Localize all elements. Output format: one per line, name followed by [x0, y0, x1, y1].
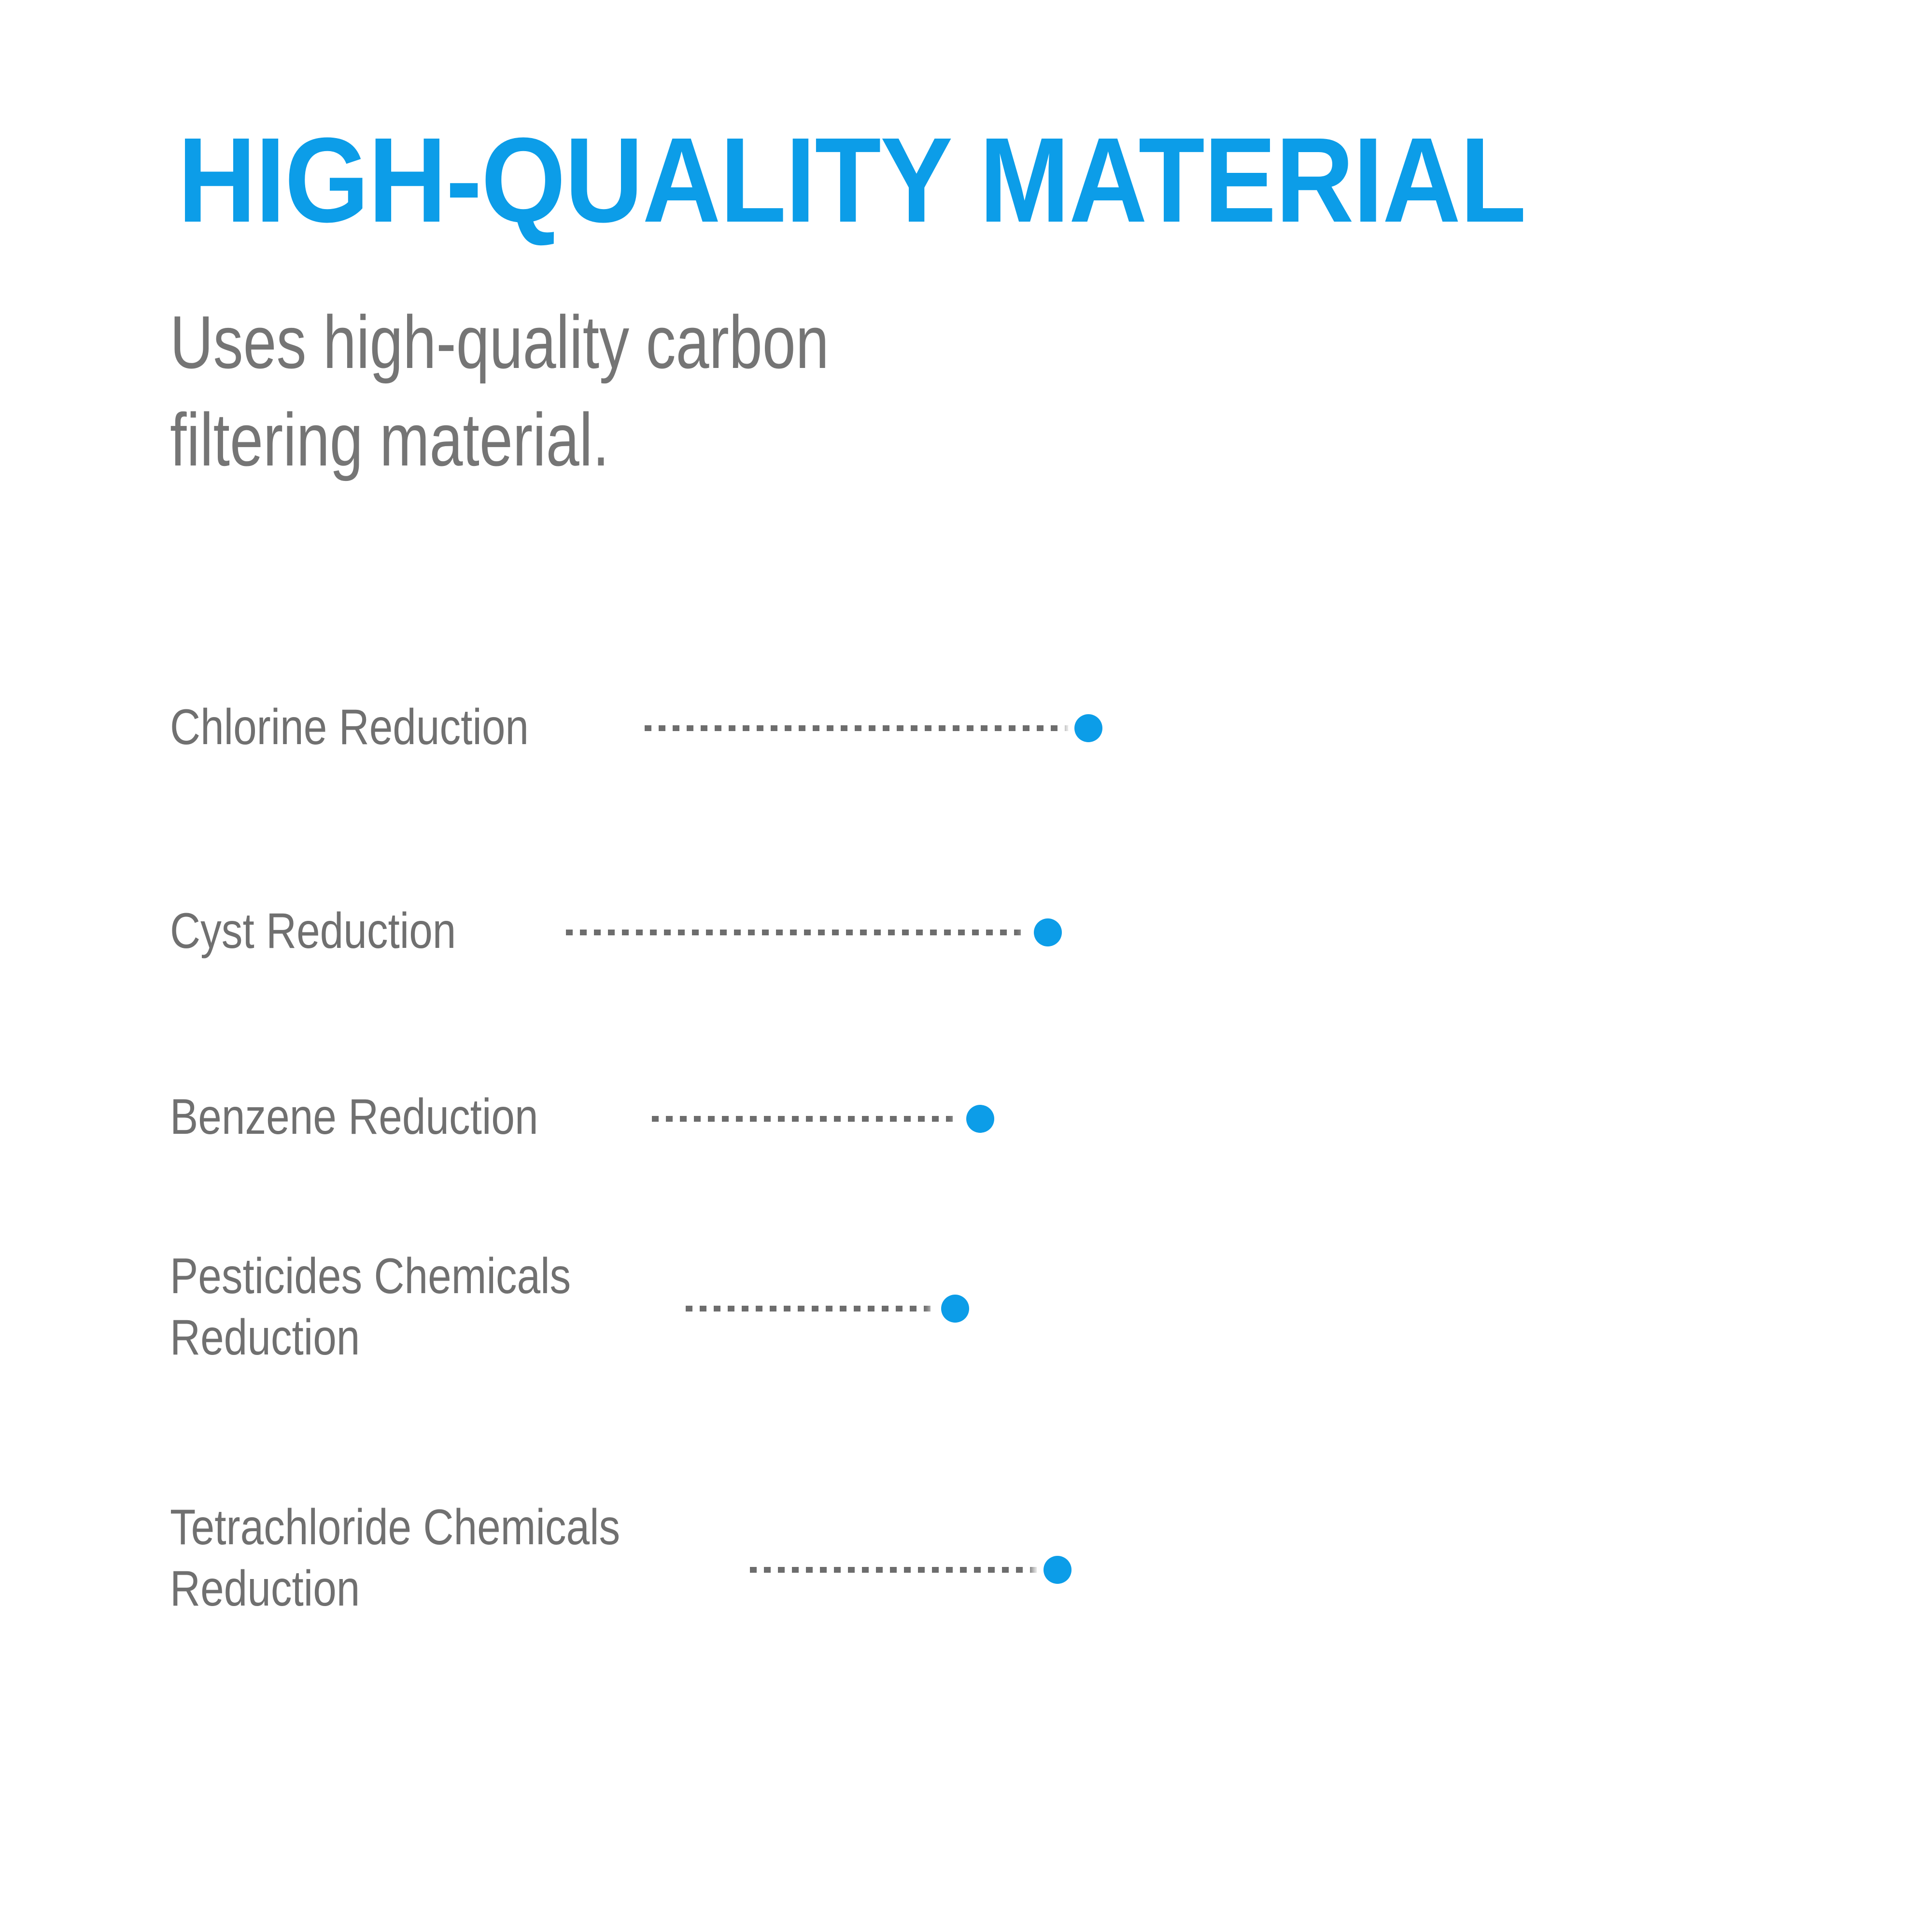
leader-line-tetrachloride: [750, 1567, 1049, 1573]
infographic-page: HIGH-QUALITY MATERIAL Uses high-quality …: [0, 0, 1932, 1932]
layer-tetrachloride: [850, 1229, 1932, 1922]
layer-cyst: [782, 633, 1932, 1371]
layer-chlorine: [894, 609, 1932, 1019]
leader-line-cyst: [566, 930, 1039, 935]
callout-label-pesticides: Pesticides Chemicals Reduction: [170, 1246, 571, 1368]
callout-dot-chlorine[interactable]: [1068, 708, 1109, 748]
callout-label-cyst: Cyst Reduction: [170, 901, 456, 962]
layer-benzene: [773, 838, 1932, 1574]
callout-label-chlorine: Chlorine Reduction: [170, 697, 529, 758]
callout-dot-benzene[interactable]: [960, 1099, 1001, 1139]
page-subtitle: Uses high-quality carbon filtering mater…: [170, 294, 829, 488]
leader-line-pesticides: [686, 1306, 946, 1312]
leader-line-benzene: [652, 1116, 971, 1122]
layer-pesticides: [797, 1033, 1932, 1777]
callout-label-tetrachloride: Tetrachloride Chemicals Reduction: [170, 1497, 620, 1620]
callout-label-benzene: Benzene Reduction: [170, 1086, 538, 1148]
leader-line-chlorine: [645, 725, 1079, 731]
callout-dot-pesticides[interactable]: [935, 1288, 975, 1329]
callout-dot-tetrachloride[interactable]: [1037, 1550, 1078, 1590]
filter-layers-artwork: [0, 0, 1932, 1932]
page-title: HIGH-QUALITY MATERIAL: [178, 118, 1525, 241]
callout-dot-cyst[interactable]: [1028, 912, 1068, 953]
